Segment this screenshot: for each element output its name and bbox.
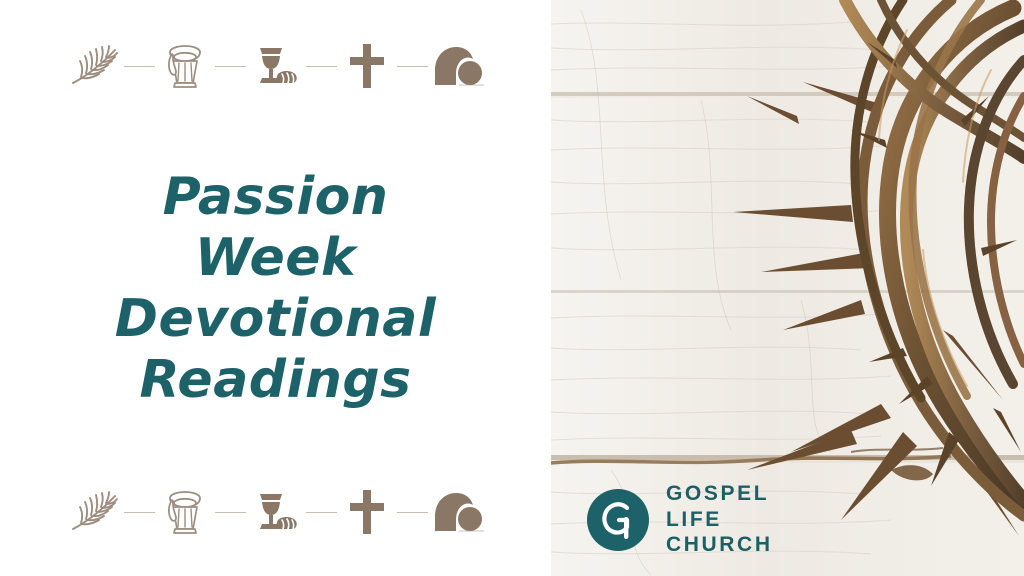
left-panel: Passion Week Devotional Readings [0, 0, 551, 576]
title-line-3: Devotional [115, 289, 436, 350]
passion-week-icon-row-top [66, 38, 486, 94]
title-line-1: Passion [163, 167, 389, 228]
icon-connector [124, 66, 155, 67]
passion-week-icon-row-bottom [66, 484, 486, 540]
title-line-4: Readings [139, 350, 411, 411]
logo-word-life: LIFE [666, 507, 773, 533]
empty-tomb-icon [430, 38, 486, 94]
icon-connector [397, 66, 428, 67]
cross-icon [339, 38, 395, 94]
icon-connector [215, 512, 246, 513]
passion-week-devotional-graphic: Passion Week Devotional Readings [0, 0, 1024, 576]
icon-connector [306, 512, 337, 513]
logo-badge-g-monogram [587, 489, 649, 551]
logo-word-church: CHURCH [666, 532, 773, 558]
logo-word-gospel: GOSPEL [666, 481, 773, 507]
washing-basin-icon [157, 38, 213, 94]
logo-wordmark: GOSPEL LIFE CHURCH [666, 481, 773, 558]
communion-cup-bread-icon [248, 484, 304, 540]
gospel-life-church-logo: GOSPEL LIFE CHURCH [587, 481, 773, 558]
empty-tomb-icon [430, 484, 486, 540]
icon-connector [215, 66, 246, 67]
page-title: Passion Week Devotional Readings [0, 94, 551, 484]
washing-basin-icon [157, 484, 213, 540]
right-panel: GOSPEL LIFE CHURCH [551, 0, 1024, 576]
title-line-2: Week [195, 228, 356, 289]
icon-connector [124, 512, 155, 513]
icon-connector [306, 66, 337, 67]
icon-connector [397, 512, 428, 513]
communion-cup-bread-icon [248, 38, 304, 94]
cross-icon [339, 484, 395, 540]
palm-branch-icon [66, 484, 122, 540]
palm-branch-icon [66, 38, 122, 94]
